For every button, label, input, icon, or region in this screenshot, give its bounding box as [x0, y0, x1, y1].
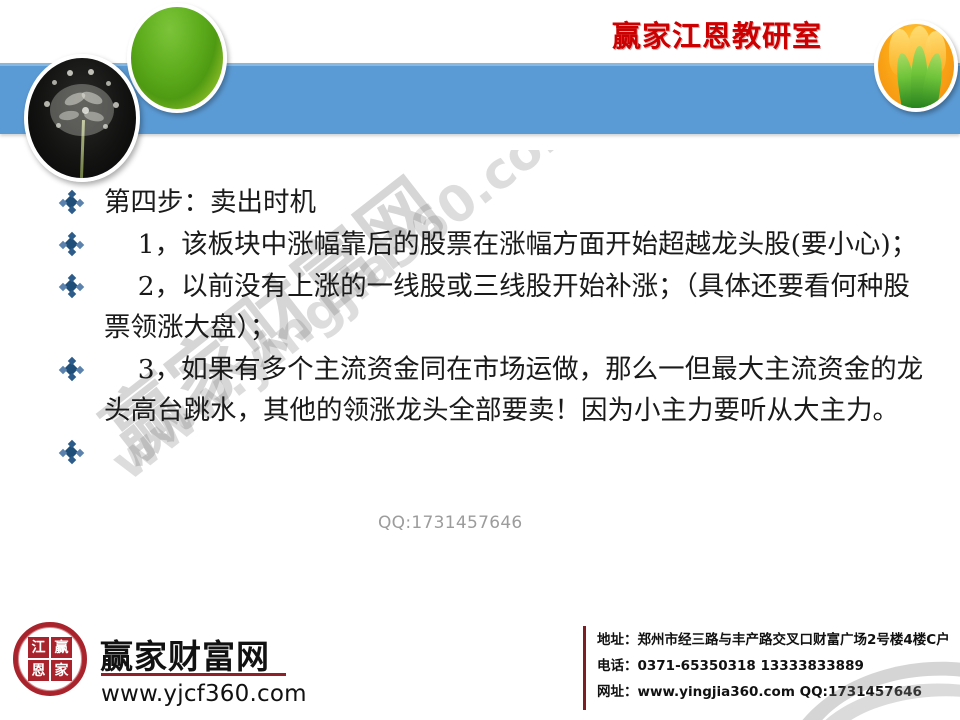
dandelion-photo-icon: [24, 54, 140, 182]
green-circle-icon: [127, 3, 227, 113]
dandelion-seed: [88, 69, 94, 75]
contact-phone-line: 电话：0371-65350318 13333833889: [597, 653, 960, 679]
contact-website-value[interactable]: www.yingjia360.com QQ:1731457646: [638, 684, 922, 700]
seal-char: 家: [51, 660, 72, 681]
dandelion-seed: [113, 102, 119, 108]
diamond-bullet-icon: [60, 233, 82, 255]
watermark-qq: QQ:1731457646: [378, 513, 523, 533]
diamond-bullet-icon: [60, 191, 82, 213]
footer-brand-url[interactable]: www.yjcf360.com: [101, 681, 307, 707]
tulip-photo-icon: [874, 20, 958, 112]
list-item-text: 第四步：卖出时机: [104, 187, 316, 218]
dandelion-seed: [67, 70, 73, 76]
contact-address-label: 地址：: [597, 632, 638, 648]
list-item-text: 3，如果有多个主流资金同在市场运做，那么一但最大主流资金的龙头高台跳水，其他的领…: [104, 354, 923, 426]
contact-website-label: 网址：: [597, 684, 638, 700]
seal-char: 赢: [51, 637, 72, 658]
footer-contact-block: 地址：郑州市经三路与丰产路交叉口财富广场2号楼4楼C户 电话：0371-6535…: [597, 627, 960, 705]
seal-char: 江: [28, 637, 49, 658]
contact-address-line: 地址：郑州市经三路与丰产路交叉口财富广场2号楼4楼C户: [597, 627, 960, 653]
diamond-bullet-icon: [60, 358, 82, 380]
footer-divider: [583, 626, 586, 710]
seal-character-grid: 江 赢 恩 家: [28, 637, 72, 681]
footer-brand-rule: [101, 673, 286, 676]
slide-body: 第四步：卖出时机 1，该板块中涨幅靠后的股票在涨幅方面开始超越龙头股(要小心)；…: [52, 182, 932, 432]
list-item-text: 2，以前没有上涨的一线股或三线股开始补涨；（具体还要看何种股票领涨大盘）；: [104, 271, 910, 343]
list-item: 1，该板块中涨幅靠后的股票在涨幅方面开始超越龙头股(要小心)；: [52, 224, 932, 265]
contact-phone-label: 电话：: [597, 658, 638, 674]
seal-char: 恩: [28, 660, 49, 681]
diamond-bullet-icon: [60, 441, 82, 463]
dandelion-seed: [106, 81, 111, 86]
dandelion-puff-core: [50, 84, 114, 136]
page-title: 赢家江恩教研室: [612, 13, 880, 55]
diamond-bullet-icon: [60, 275, 82, 297]
footer-brand-name: 赢家财富网: [100, 630, 270, 678]
contact-address-value: 郑州市经三路与丰产路交叉口财富广场2号楼4楼C户: [638, 632, 950, 648]
company-seal-logo: 江 赢 恩 家: [13, 622, 93, 702]
dandelion-seed: [52, 80, 57, 85]
slide-root: 赢家江恩教研室 赢家财富网 www.yingjia360.com: [0, 0, 960, 720]
list-item: 2，以前没有上涨的一线股或三线股开始补涨；（具体还要看何种股票领涨大盘）；: [52, 266, 932, 348]
list-item-text: 1，该板块中涨幅靠后的股票在涨幅方面开始超越龙头股(要小心)；: [104, 229, 917, 260]
contact-website-line: 网址：www.yingjia360.com QQ:1731457646: [597, 679, 960, 705]
list-item: 第四步：卖出时机: [52, 182, 932, 223]
list-item: 3，如果有多个主流资金同在市场运做，那么一但最大主流资金的龙头高台跳水，其他的领…: [52, 349, 932, 431]
contact-phone-value: 0371-65350318 13333833889: [638, 658, 864, 674]
